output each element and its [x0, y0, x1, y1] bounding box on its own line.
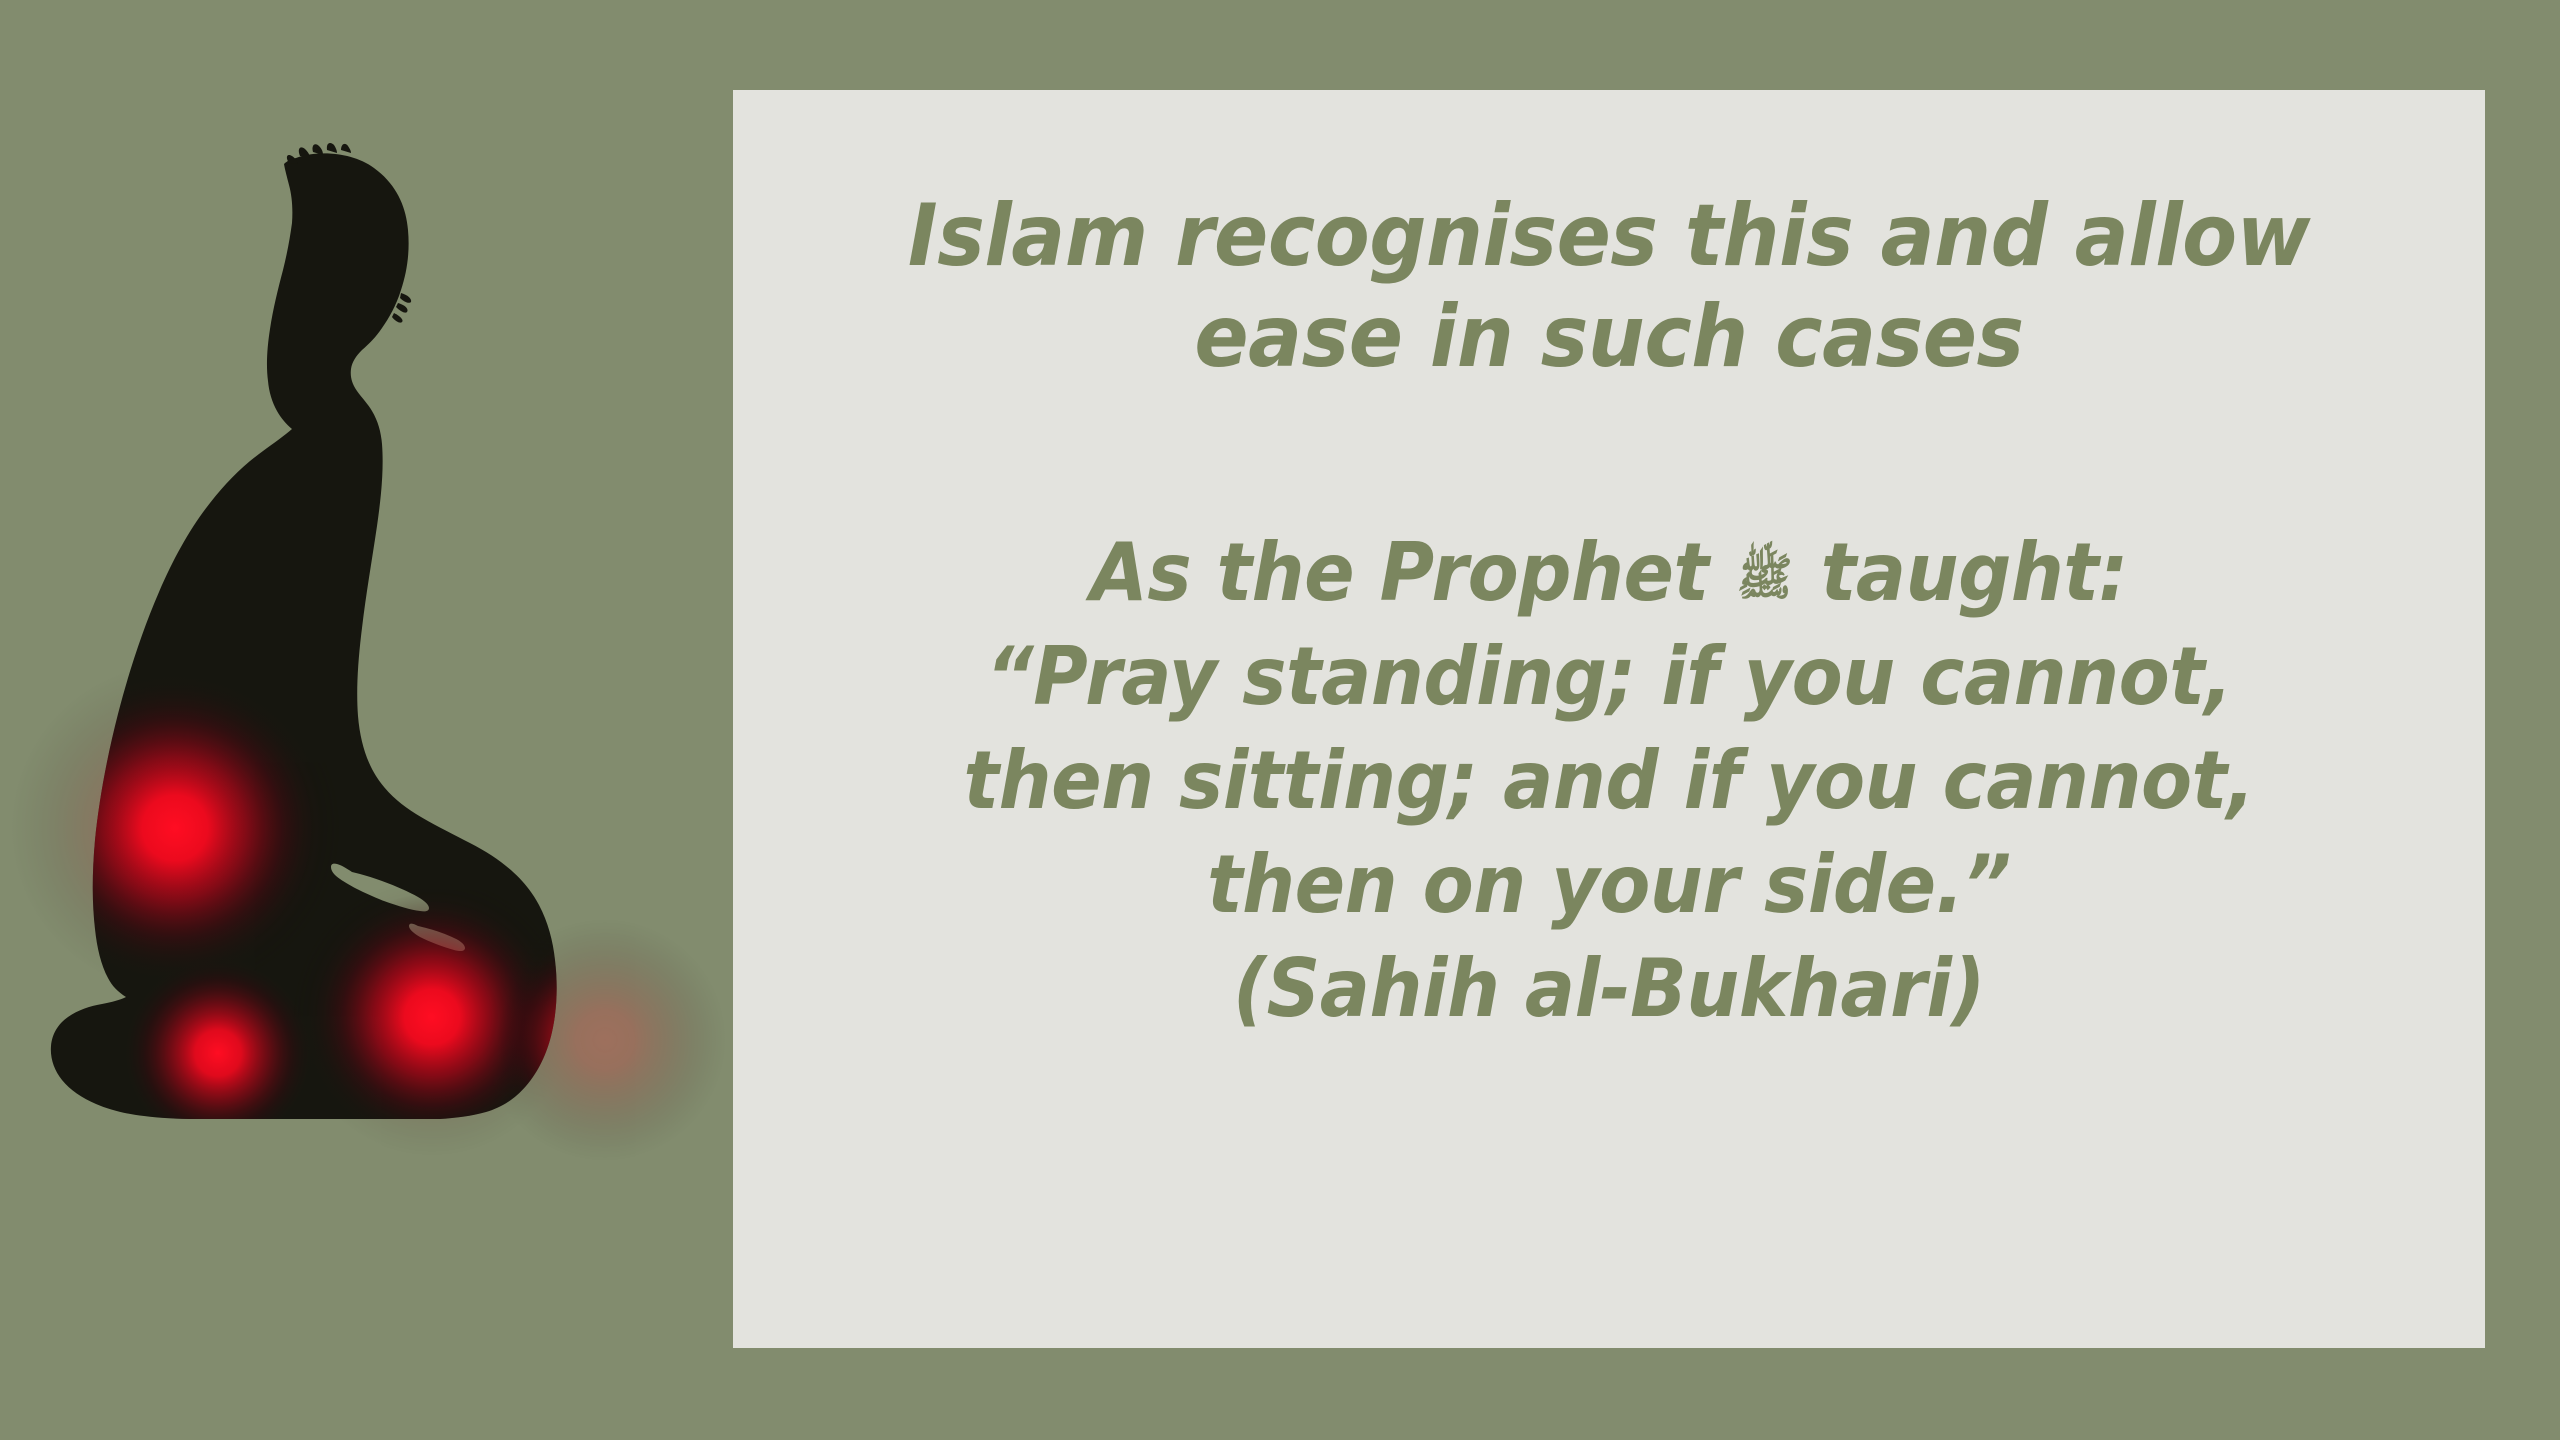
card-heading: Islam recognises this and allow ease in …: [906, 186, 2312, 389]
heading-quote-spacer: [853, 389, 2365, 521]
quote-line: “Pray standing; if you cannot,: [906, 625, 2312, 729]
hadith-quote-block: As the Prophet ﷺ taught: “Pray standing;…: [906, 521, 2312, 1041]
salawat-symbol-icon: ﷺ: [1734, 553, 1795, 603]
poster-canvas: Islam recognises this and allow ease in …: [0, 0, 2560, 1440]
quote-line-text-before: As the Prophet: [1090, 526, 1734, 619]
quote-card: Islam recognises this and allow ease in …: [733, 90, 2485, 1348]
quote-line-text-after: taught:: [1795, 526, 2127, 619]
quote-source: (Sahih al-Bukhari): [906, 937, 2312, 1041]
quote-line: then sitting; and if you cannot,: [906, 729, 2312, 833]
quote-line: then on your side.”: [906, 833, 2312, 937]
prayer-silhouette-illustration: [0, 0, 733, 1440]
quote-line: As the Prophet ﷺ taught:: [906, 521, 2312, 625]
